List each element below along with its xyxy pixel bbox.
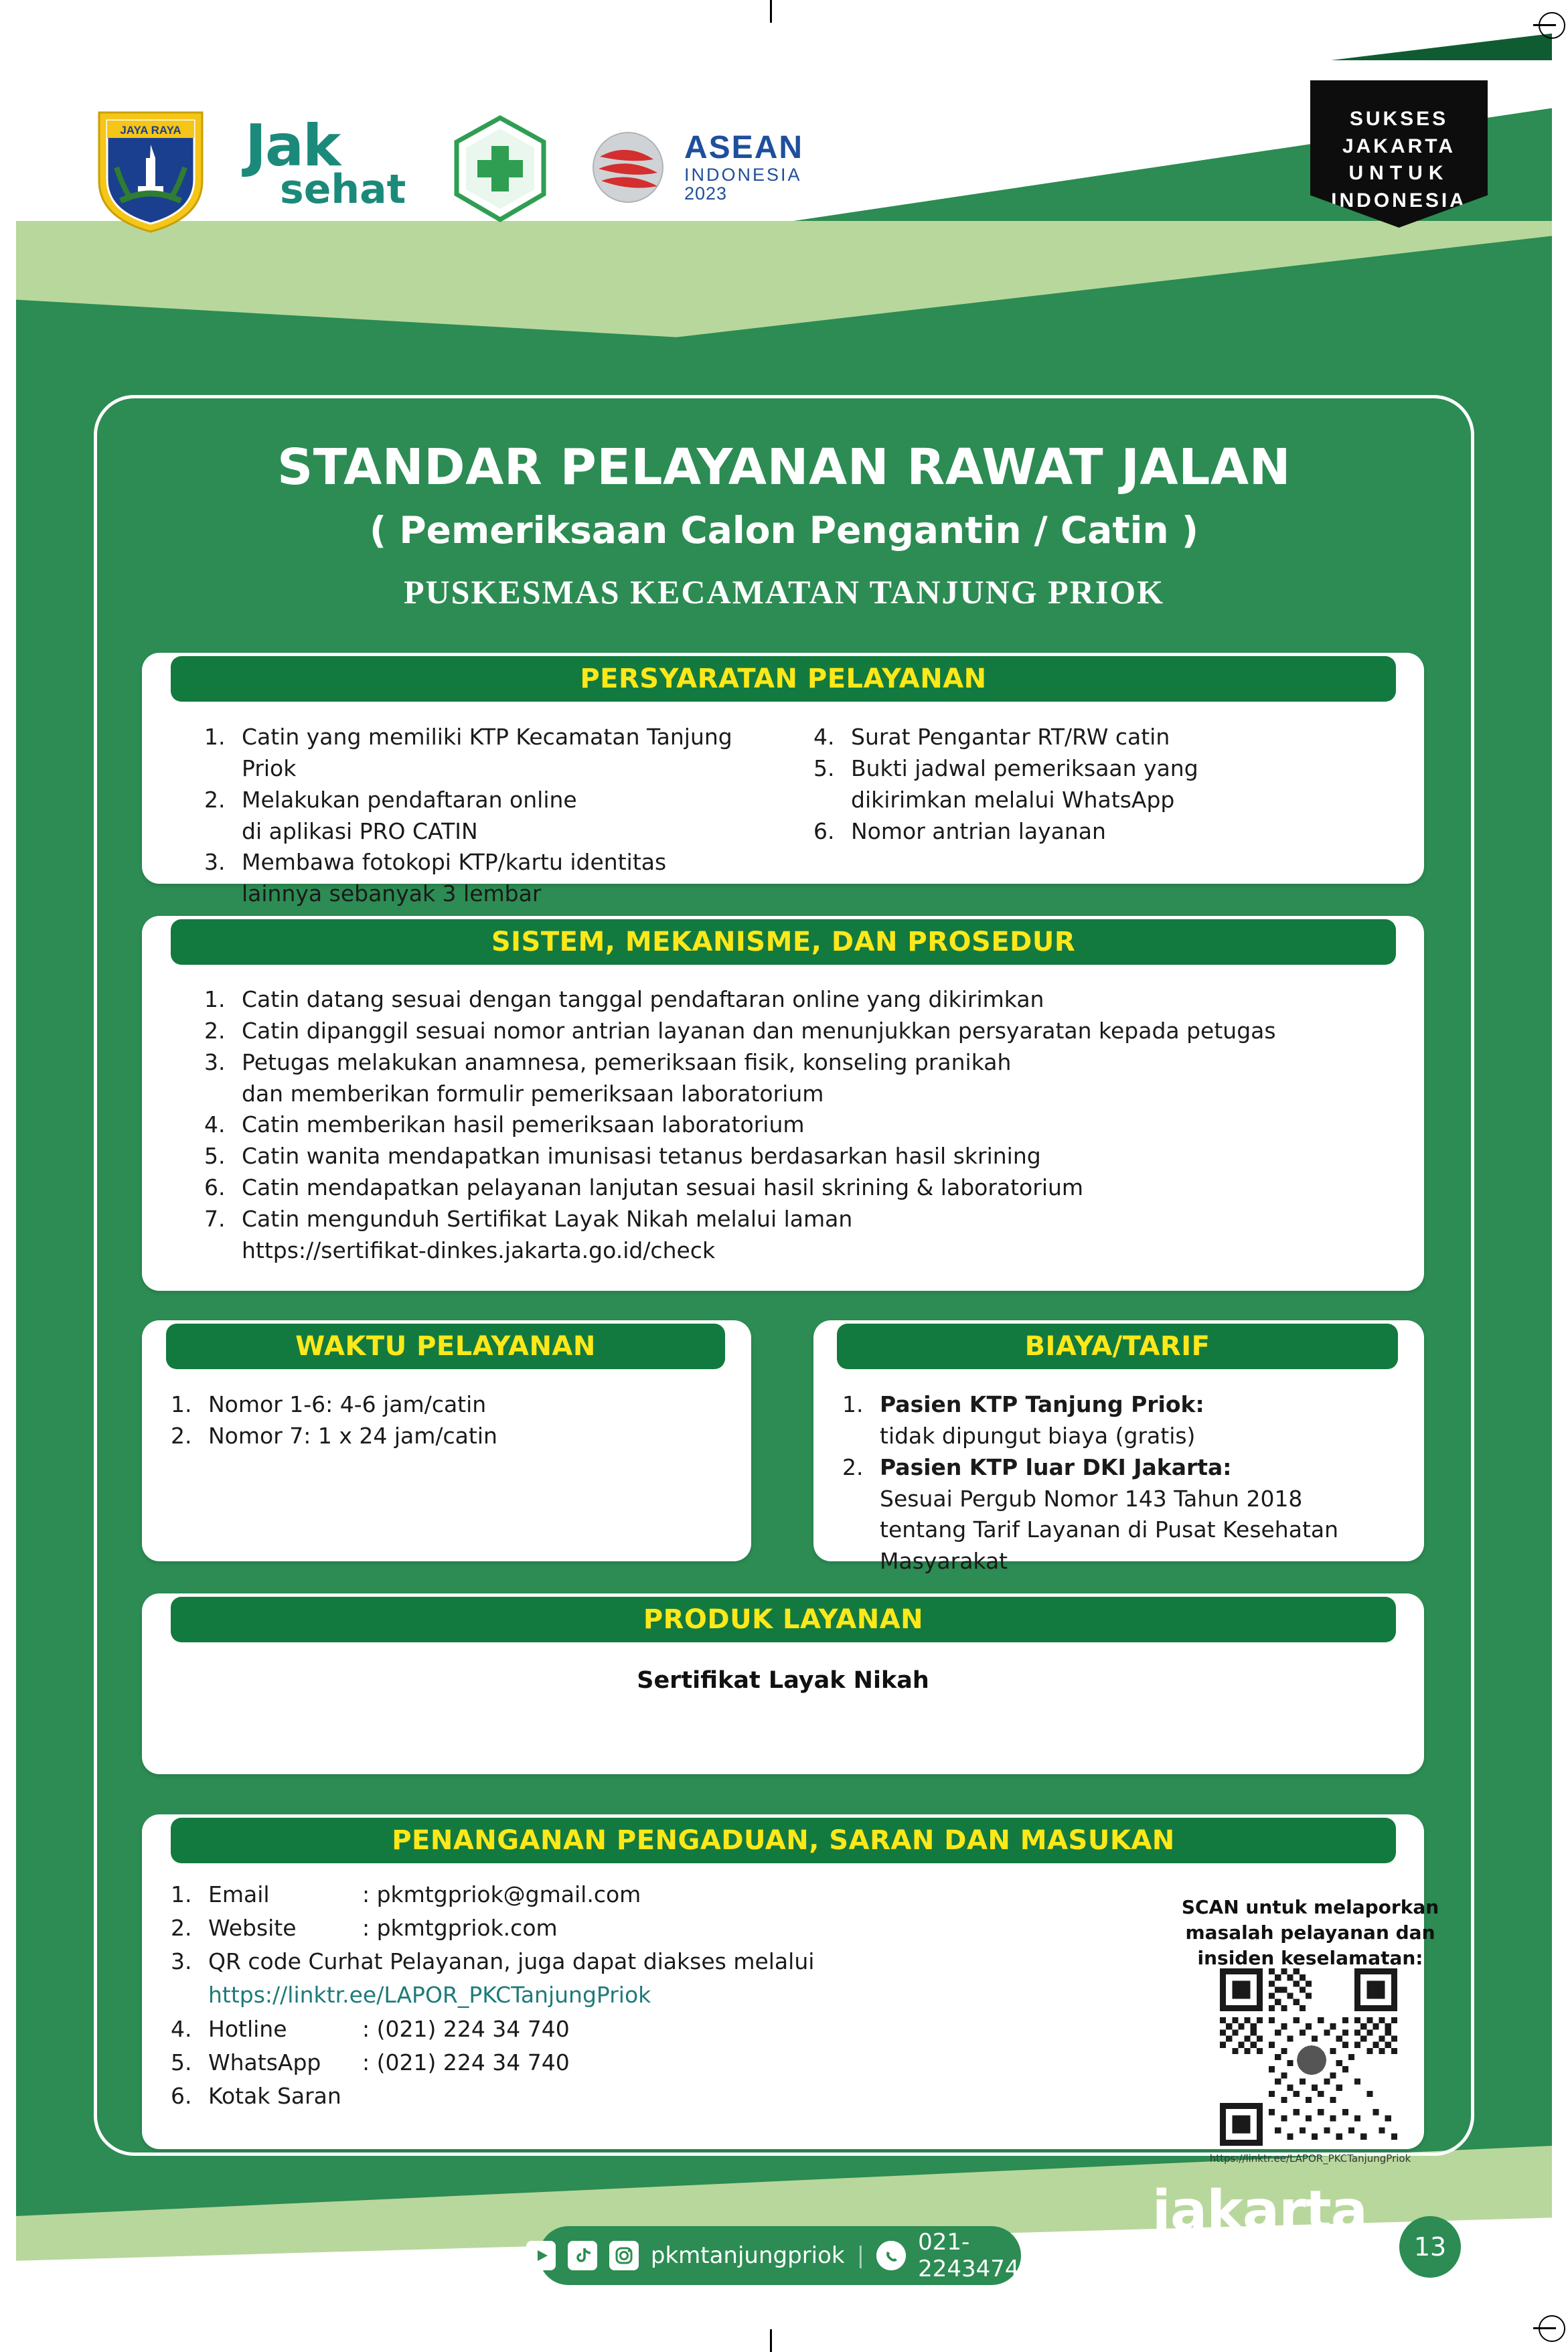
tiktok-icon[interactable] bbox=[568, 2241, 597, 2270]
list-item: 1. Email : pkmtgpriok@gmail.com bbox=[171, 1878, 1054, 1911]
biaya-list: 1.Pasien KTP Tanjung Priok: tidak dipung… bbox=[842, 1389, 1431, 1577]
whatsapp-icon[interactable] bbox=[876, 2241, 906, 2270]
list-item: 4.Surat Pengantar RT/RW catin bbox=[813, 722, 1383, 753]
badge-line-1: SUKSES bbox=[1310, 106, 1488, 133]
footer-phone: 021-22434740 bbox=[918, 2229, 1034, 2282]
list-item: 1.Catin yang memiliki KTP Kecamatan Tanj… bbox=[204, 722, 773, 785]
list-item: 2.Nomor 7: 1 x 24 jam/catin bbox=[171, 1421, 733, 1452]
social-handle: pkmtanjungpriok bbox=[651, 2242, 845, 2269]
produk-value: Sertifikat Layak Nikah bbox=[142, 1667, 1424, 1694]
list-item-continuation: dikirimkan melalui WhatsApp bbox=[851, 785, 1383, 816]
instagram-icon[interactable] bbox=[609, 2241, 639, 2270]
list-item: 3.Membawa fotokopi KTP/kartu identitas bbox=[204, 847, 773, 878]
badge-line-3: UNTUK bbox=[1310, 160, 1488, 187]
sistem-list: 1.Catin datang sesuai dengan tanggal pen… bbox=[204, 984, 1383, 1267]
asean-globe-icon bbox=[588, 127, 675, 208]
registration-mark-top bbox=[1539, 12, 1565, 39]
qr-instruction-line-2: masalah pelayanan dan bbox=[1170, 1920, 1451, 1946]
youtube-icon[interactable] bbox=[526, 2241, 556, 2270]
puskesmas-name: PUSKESMAS KECAMATAN TANJUNG PRIOK bbox=[0, 572, 1568, 611]
list-item: 1.Nomor 1-6: 4-6 jam/catin bbox=[171, 1389, 733, 1421]
qr-code-image[interactable] bbox=[1220, 1968, 1397, 2146]
persyaratan-left-list: 1.Catin yang memiliki KTP Kecamatan Tanj… bbox=[204, 722, 773, 910]
list-item-continuation: tidak dipungut biaya (gratis) bbox=[880, 1421, 1431, 1452]
page-title: STANDAR PELAYANAN RAWAT JALAN bbox=[0, 439, 1568, 496]
list-item: 3.Petugas melakukan anamnesa, pemeriksaa… bbox=[204, 1047, 1383, 1079]
list-item: 6. Kotak Saran bbox=[171, 2080, 1054, 2113]
badge-line-2: JAKARTA bbox=[1310, 133, 1488, 161]
list-item: 5. WhatsApp : (021) 224 34 740 bbox=[171, 2046, 1054, 2080]
pengaduan-list: 1. Email : pkmtgpriok@gmail.com 2. Websi… bbox=[171, 1878, 1054, 2113]
pengaduan-link[interactable]: https://linktr.ee/LAPOR_PKCTanjungPriok bbox=[208, 1978, 1054, 2012]
list-item: 1.Catin datang sesuai dengan tanggal pen… bbox=[204, 984, 1383, 1016]
produk-heading: PRODUK LAYANAN bbox=[171, 1597, 1396, 1642]
poster-page: JAYA RAYA Jak sehat bbox=[0, 0, 1568, 2352]
crop-mark-right-bottom bbox=[1533, 2327, 1556, 2329]
asean-title: ASEAN bbox=[684, 131, 803, 165]
list-item: 2.Pasien KTP luar DKI Jakarta: bbox=[842, 1452, 1431, 1484]
footer-divider: | bbox=[857, 2242, 864, 2269]
list-item-continuation: https://sertifikat-dinkes.jakarta.go.id/… bbox=[242, 1235, 1383, 1267]
crop-mark-top bbox=[770, 0, 772, 23]
persyaratan-right-list: 4.Surat Pengantar RT/RW catin 5.Bukti ja… bbox=[813, 722, 1383, 847]
corner-accent bbox=[1331, 33, 1552, 60]
asean-year: 2023 bbox=[684, 184, 803, 203]
list-item: 2.Catin dipanggil sesuai nomor antrian l… bbox=[204, 1016, 1383, 1047]
list-item-continuation: lainnya sebanyak 3 lembar bbox=[242, 878, 773, 910]
list-item-continuation: dan memberikan formulir pemeriksaan labo… bbox=[242, 1079, 1383, 1110]
dki-jakarta-emblem-icon: JAYA RAYA bbox=[94, 100, 208, 234]
footer-contact-bar: pkmtanjungpriok | 021-22434740 bbox=[539, 2226, 1021, 2285]
list-item-continuation-2: tentang Tarif Layanan di Pusat Kesehatan… bbox=[880, 1514, 1431, 1577]
list-item: 6.Nomor antrian layanan bbox=[813, 816, 1383, 848]
list-item: 5.Catin wanita mendapatkan imunisasi tet… bbox=[204, 1141, 1383, 1172]
list-item: 4.Catin memberikan hasil pemeriksaan lab… bbox=[204, 1109, 1383, 1141]
svg-text:JAYA RAYA: JAYA RAYA bbox=[120, 124, 181, 137]
jakarta-brand-text: jakarta bbox=[1152, 2179, 1367, 2243]
waktu-list: 1.Nomor 1-6: 4-6 jam/catin 2.Nomor 7: 1 … bbox=[171, 1389, 733, 1452]
list-item: 4. Hotline : (021) 224 34 740 bbox=[171, 2013, 1054, 2046]
list-item: 1.Pasien KTP Tanjung Priok: bbox=[842, 1389, 1431, 1421]
list-item: 7.Catin mengunduh Sertifikat Layak Nikah… bbox=[204, 1204, 1383, 1235]
crop-mark-bottom bbox=[770, 2329, 772, 2352]
puskesmas-cross-icon bbox=[450, 114, 550, 221]
pengaduan-heading: PENANGANAN PENGADUAN, SARAN DAN MASUKAN bbox=[171, 1818, 1396, 1863]
sistem-heading: SISTEM, MEKANISME, DAN PROSEDUR bbox=[171, 919, 1396, 965]
qr-instruction-line-1: SCAN untuk melaporkan bbox=[1170, 1895, 1451, 1920]
list-item: 3. QR code Curhat Pelayanan, juga dapat … bbox=[171, 1945, 1054, 1978]
page-number: 13 bbox=[1399, 2216, 1461, 2278]
jakarta-brand-logo: jakarta kota kolaborasi bbox=[1152, 2179, 1367, 2255]
biaya-heading: BIAYA/TARIF bbox=[837, 1324, 1398, 1369]
qr-instruction-line-3: insiden keselamatan: bbox=[1170, 1946, 1451, 1971]
list-item-continuation: di aplikasi PRO CATIN bbox=[242, 816, 773, 848]
asean-2023-logo: ASEAN INDONESIA 2023 bbox=[588, 127, 803, 208]
qr-instruction: SCAN untuk melaporkan masalah pelayanan … bbox=[1170, 1895, 1451, 1970]
persyaratan-heading: PERSYARATAN PELAYANAN bbox=[171, 656, 1396, 702]
list-item: 6.Catin mendapatkan pelayanan lanjutan s… bbox=[204, 1172, 1383, 1204]
list-item: 5.Bukti jadwal pemeriksaan yang bbox=[813, 753, 1383, 785]
qr-caption: https://linktr.ee/LAPOR_PKCTanjungPriok bbox=[1173, 2152, 1447, 2165]
jak-sehat-logo: Jak sehat bbox=[245, 117, 412, 218]
waktu-heading: WAKTU PELAYANAN bbox=[166, 1324, 725, 1369]
list-item: 2.Melakukan pendaftaran online bbox=[204, 785, 773, 816]
list-item: 2. Website : pkmtgpriok.com bbox=[171, 1911, 1054, 1945]
list-item-continuation: Sesuai Pergub Nomor 143 Tahun 2018 bbox=[880, 1484, 1431, 1515]
jak-sehat-sehat-text: sehat bbox=[280, 169, 412, 210]
header-logo-row: JAYA RAYA Jak sehat bbox=[94, 100, 803, 234]
asean-country: INDONESIA bbox=[684, 165, 803, 184]
page-subtitle: ( Pemeriksaan Calon Pengantin / Catin ) bbox=[0, 509, 1568, 552]
